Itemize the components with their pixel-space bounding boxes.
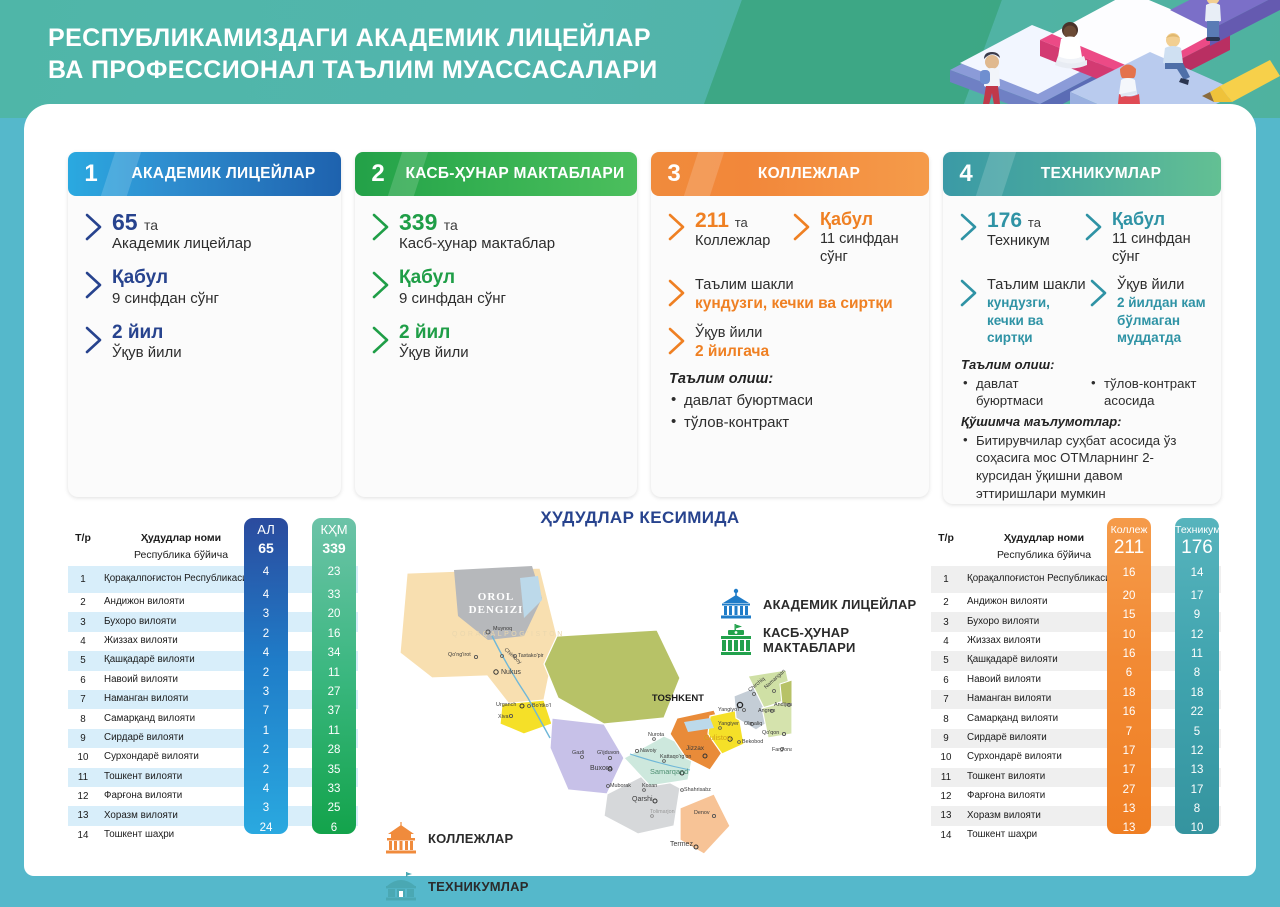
card3-admission-block: Қабул 11 синфдан сўнг — [790, 210, 915, 266]
value-column-al-total: 65 — [244, 537, 288, 559]
card3-admission-keyword: Қабул — [820, 210, 915, 230]
card3-year-label: Ўқув йили — [695, 324, 769, 342]
card2-body: 339 та Касб-ҳунар мактаблар Қабул 9 синф… — [355, 196, 637, 497]
row-number: 3 — [931, 617, 961, 628]
academic-lyceum-icon — [719, 588, 753, 620]
card1-header: 1 АКАДЕМИК ЛИЦЕЙЛАР — [68, 152, 341, 196]
value-cell: 18 — [1175, 684, 1219, 703]
card1-title: АКАДЕМИК ЛИЦЕЙЛАР — [114, 165, 341, 183]
value-cell: 16 — [312, 625, 356, 644]
vocational-school-icon — [719, 624, 753, 656]
row-number: 1 — [931, 574, 961, 585]
value-cell: 11 — [312, 722, 356, 741]
card1-duration-label: Ўқув йили — [112, 344, 327, 363]
card4-top-row: 176 та Техникум Қабул 11 синфдан сўнг — [957, 210, 1207, 266]
svg-text:G'ijduvon: G'ijduvon — [597, 750, 619, 756]
card4-number: 4 — [943, 160, 989, 188]
card4-header: 4 ТЕХНИКУМЛАР — [943, 152, 1221, 196]
legend-item-technicum: ТЕХНИКУМЛАР — [384, 870, 529, 902]
value-cell: 27 — [312, 683, 356, 702]
value-cell: 16 — [1107, 703, 1151, 722]
card4-note-item: давлат буюртмаси — [961, 375, 1079, 410]
legend-label: АКАДЕМИК ЛИЦЕЙЛАР — [763, 597, 916, 612]
card2-admission-row: Қабул 9 синфдан сўнг — [369, 268, 623, 309]
card4-extra-item: Битирувчилар суҳбат асосида ўз соҳасига … — [961, 432, 1207, 502]
card2-count-unit: та — [444, 217, 458, 233]
value-cell: 20 — [312, 605, 356, 624]
card4-note-list-left: давлат буюртмаси — [961, 375, 1079, 410]
value-cell: 11 — [312, 664, 356, 683]
row-number: 14 — [68, 830, 98, 841]
card3-count-label: Коллежлар — [695, 232, 770, 250]
card-vocational-schools[interactable]: 2 КАСБ-ҲУНАР МАКТАБЛАРИ 339 та Касб-ҳуна… — [355, 152, 637, 497]
value-cell: 2 — [244, 625, 288, 644]
chevron-right-icon — [665, 324, 691, 358]
value-cell: 14 — [1175, 560, 1219, 587]
value-column-technicum-cells: 141791211818225121317810 — [1175, 560, 1219, 839]
value-column-khm-header: КҲМ — [312, 518, 356, 537]
card2-admission-keyword: Қабул — [399, 268, 623, 289]
svg-text:Angren: Angren — [758, 708, 775, 714]
card4-note-item: тўлов-контракт асосида — [1089, 375, 1207, 410]
row-number: 12 — [68, 791, 98, 802]
row-number: 10 — [68, 752, 98, 763]
page-title-line1: РЕСПУБЛИКАМИЗДАГИ АКАДЕМИК ЛИЦЕЙЛАР — [48, 22, 658, 54]
table-left-col-num-header: Т/р — [68, 532, 98, 544]
card1-duration-row: 2 йил Ўқув йили — [82, 323, 327, 364]
value-cell: 7 — [1107, 723, 1151, 742]
card4-count-label: Техникум — [987, 232, 1050, 250]
card2-count: 339 — [399, 209, 437, 235]
value-cell: 17 — [1175, 587, 1219, 606]
svg-text:Gazli: Gazli — [572, 750, 584, 756]
value-cell: 4 — [244, 586, 288, 605]
card4-body: 176 та Техникум Қабул 11 синфдан сўнг — [943, 196, 1221, 504]
value-cell: 24 — [244, 819, 288, 838]
card3-header: 3 КОЛЛЕЖЛАР — [651, 152, 929, 196]
value-cell: 8 — [1175, 800, 1219, 819]
svg-text:Navoiy: Navoiy — [640, 748, 657, 754]
chevron-right-icon — [665, 276, 691, 310]
card3-count: 211 — [695, 209, 729, 232]
svg-text:Bo'rtko'l: Bo'rtko'l — [532, 703, 551, 709]
value-cell: 33 — [312, 780, 356, 799]
value-cell: 5 — [1175, 723, 1219, 742]
card2-admission-label: 9 синфдан сўнг — [399, 290, 623, 309]
value-cell: 23 — [312, 559, 356, 586]
row-number: 3 — [68, 617, 98, 628]
row-number: 7 — [68, 694, 98, 705]
row-number: 9 — [68, 733, 98, 744]
value-cell: 11 — [1175, 645, 1219, 664]
map-sea-label-line1: OROL — [478, 591, 514, 603]
card4-extra-list: Битирувчилар суҳбат асосида ўз соҳасига … — [961, 432, 1207, 502]
svg-text:Tolimarjon: Tolimarjon — [650, 809, 675, 815]
chevron-right-icon — [665, 210, 691, 244]
value-cell: 33 — [312, 586, 356, 605]
card3-year-row: Ўқув йили 2 йилгача — [665, 324, 915, 362]
value-column-college-header: Коллеж — [1107, 518, 1151, 536]
chevron-right-icon — [790, 210, 816, 244]
row-number: 4 — [68, 636, 98, 647]
chevron-right-icon — [82, 268, 108, 302]
chevron-right-icon — [957, 210, 983, 244]
card3-body: 211 та Коллежлар Қабул 11 синфдан сўнг — [651, 196, 929, 497]
college-icon — [384, 822, 418, 854]
card1-number: 1 — [68, 160, 114, 188]
card3-form-label: Таълим шакли — [695, 276, 893, 294]
card4-count-unit: та — [1028, 215, 1041, 230]
students-books-illustration — [920, 0, 1280, 118]
svg-text:QORAQALPOG'ISTON: QORAQALPOG'ISTON — [452, 631, 565, 638]
card1-count-row: 65 та Академик лицейлар — [82, 210, 327, 254]
value-cell: 3 — [244, 683, 288, 702]
svg-text:Yangiyo'l: Yangiyo'l — [718, 707, 739, 713]
row-number: 2 — [931, 597, 961, 608]
value-cell: 2 — [244, 664, 288, 683]
row-number: 11 — [68, 772, 98, 783]
value-cell: 25 — [312, 799, 356, 818]
svg-text:Taxtako'pir: Taxtako'pir — [518, 653, 544, 659]
table-lyceums-vocational: Т/р Ҳудудлар номи Республика бўйича 1Қор… — [68, 518, 358, 845]
svg-text:Urganch: Urganch — [496, 702, 516, 708]
card3-year-value: 2 йилгача — [695, 342, 769, 361]
value-column-college-total: 211 — [1107, 536, 1151, 560]
value-column-technicum: Техникум 176 141791211818225121317810 — [1175, 518, 1219, 834]
row-number: 9 — [931, 733, 961, 744]
svg-text:Bekobod: Bekobod — [742, 739, 763, 745]
card3-top-row: 211 та Коллежлар Қабул 11 синфдан сўнг — [665, 210, 915, 266]
value-cell: 13 — [1107, 800, 1151, 819]
card4-count-block: 176 та Техникум — [957, 210, 1082, 266]
svg-text:Termez: Termez — [670, 841, 693, 848]
card1-duration-keyword: 2 йил — [112, 323, 327, 344]
svg-text:Kosan: Kosan — [642, 783, 657, 789]
row-number: 5 — [931, 655, 961, 666]
svg-text:Samarqand: Samarqand — [650, 767, 688, 776]
value-cell: 22 — [1175, 703, 1219, 722]
value-cell: 18 — [1107, 684, 1151, 703]
card3-title: КОЛЛЕЖЛАР — [697, 165, 929, 183]
card4-year-value: 2 йилдан кам бўлмаган муддатда — [1117, 294, 1212, 347]
value-cell: 37 — [312, 702, 356, 721]
card3-number: 3 — [651, 160, 697, 188]
svg-text:Qo'ng'irot: Qo'ng'irot — [448, 652, 471, 658]
svg-text:Muborak: Muborak — [610, 783, 631, 789]
legend-item-academic-lyceum: АКАДЕМИК ЛИЦЕЙЛАР — [719, 588, 916, 620]
value-cell: 3 — [244, 799, 288, 818]
row-number: 1 — [68, 574, 98, 585]
card2-header: 2 КАСБ-ҲУНАР МАКТАБЛАРИ — [355, 152, 637, 196]
card3-form-row: Таълим шакли кундузги, кечки ва сиртқи — [665, 276, 915, 314]
card1-admission-label: 9 синфдан сўнг — [112, 290, 327, 309]
chevron-right-icon — [369, 268, 395, 302]
card1-body: 65 та Академик лицейлар Қабул 9 синфдан … — [68, 196, 341, 497]
card4-year-block: Ўқув йили 2 йилдан кам бўлмаган муддатда — [1087, 276, 1212, 347]
row-number: 2 — [68, 597, 98, 608]
svg-text:Olmaliq: Olmaliq — [744, 721, 762, 727]
value-cell: 4 — [244, 644, 288, 663]
chevron-right-icon — [82, 210, 108, 244]
value-cell: 17 — [1107, 742, 1151, 761]
legend-label: КОЛЛЕЖЛАР — [428, 831, 513, 846]
page-title: РЕСПУБЛИКАМИЗДАГИ АКАДЕМИК ЛИЦЕЙЛАР ВА П… — [48, 22, 658, 86]
value-cell: 20 — [1107, 587, 1151, 606]
legend-label: КАСБ-ҲУНАР МАКТАБЛАРИ — [763, 625, 930, 655]
value-column-khm: КҲМ 339 233320163411273711283533256 — [312, 518, 356, 834]
value-cell: 6 — [1107, 664, 1151, 683]
value-column-al: АЛ 65 443242371224324 — [244, 518, 288, 834]
card3-note-heading: Таълим олиш: — [669, 371, 915, 387]
row-number: 11 — [931, 772, 961, 783]
svg-text:Shahrisabz: Shahrisabz — [684, 787, 711, 793]
card2-duration-label: Ўқув йили — [399, 344, 623, 363]
svg-text:Guliston: Guliston — [704, 733, 731, 742]
card4-admission-block: Қабул 11 синфдан сўнг — [1082, 210, 1207, 266]
svg-text:Farg'ona: Farg'ona — [772, 747, 792, 753]
svg-text:Andijon: Andijon — [774, 702, 792, 708]
row-number: 10 — [931, 752, 961, 763]
value-cell: 13 — [1175, 761, 1219, 780]
card-technicums[interactable]: 4 ТЕХНИКУМЛАР 176 та Техникум — [943, 152, 1221, 504]
card1-count-unit: та — [144, 217, 158, 233]
card4-form-block: Таълим шакли кундузги, кечки ва сиртқи — [957, 276, 1087, 347]
chevron-right-icon — [1087, 276, 1113, 310]
legend-item-vocational-school: КАСБ-ҲУНАР МАКТАБЛАРИ — [719, 624, 930, 656]
card-colleges[interactable]: 3 КОЛЛЕЖЛАР 211 та Коллежлар — [651, 152, 929, 497]
chevron-right-icon — [369, 323, 395, 357]
value-cell: 9 — [1175, 606, 1219, 625]
card1-admission-row: Қабул 9 синфдан сўнг — [82, 268, 327, 309]
value-cell: 7 — [244, 702, 288, 721]
card4-note-list-right: тўлов-контракт асосида — [1089, 375, 1207, 410]
value-cell: 2 — [244, 761, 288, 780]
row-number: 5 — [68, 655, 98, 666]
value-column-al-cells: 443242371224324 — [244, 559, 288, 838]
card3-form-value: кундузги, кечки ва сиртқи — [695, 294, 893, 313]
card3-admission-label: 11 синфдан сўнг — [820, 230, 915, 266]
row-number: 4 — [931, 636, 961, 647]
value-cell: 34 — [312, 644, 356, 663]
value-column-khm-total: 339 — [312, 537, 356, 559]
value-cell: 10 — [1175, 819, 1219, 838]
value-cell: 17 — [1175, 781, 1219, 800]
table-right-col-num-header: Т/р — [931, 532, 961, 544]
value-cell: 28 — [312, 741, 356, 760]
value-cell: 2 — [244, 741, 288, 760]
card4-note-heading: Таълим олиш: — [961, 357, 1207, 372]
svg-text:Qo'qon: Qo'qon — [762, 730, 779, 736]
row-number: 6 — [931, 675, 961, 686]
svg-text:Jizzax: Jizzax — [686, 745, 705, 752]
card1-count: 65 — [112, 209, 138, 235]
card3-note-item: тўлов-контракт — [669, 412, 915, 434]
card2-count-label: Касб-ҳунар мактаблар — [399, 235, 623, 254]
value-cell: 35 — [312, 761, 356, 780]
card2-count-row: 339 та Касб-ҳунар мактаблар — [369, 210, 623, 254]
value-column-technicum-total: 176 — [1175, 536, 1219, 560]
map-region: OROL DENGIZI QORAQALPOG'ISTON Muynoq Qo'… — [364, 540, 930, 870]
svg-text:Xiva: Xiva — [498, 714, 509, 720]
row-number: 12 — [931, 791, 961, 802]
value-cell: 17 — [1107, 761, 1151, 780]
card4-form-value: кундузги, кечки ва сиртқи — [987, 294, 1087, 347]
svg-text:Muynoq: Muynoq — [493, 626, 512, 632]
table-colleges-technicums: Т/р Ҳудудлар номи Республика бўйича 1Қор… — [931, 518, 1221, 845]
value-cell: 16 — [1107, 560, 1151, 587]
svg-text:Qarshi: Qarshi — [632, 796, 653, 803]
value-cell: 4 — [244, 780, 288, 799]
value-cell: 1 — [244, 722, 288, 741]
value-cell: 4 — [244, 559, 288, 586]
value-cell: 16 — [1107, 645, 1151, 664]
value-column-al-header: АЛ — [244, 518, 288, 537]
card4-admission-label: 11 синфдан сўнг — [1112, 230, 1207, 266]
value-cell: 10 — [1107, 626, 1151, 645]
value-cell: 27 — [1107, 781, 1151, 800]
card1-count-label: Академик лицейлар — [112, 235, 327, 254]
chevron-right-icon — [82, 323, 108, 357]
card3-count-block: 211 та Коллежлар — [665, 210, 790, 266]
chevron-right-icon — [369, 210, 395, 244]
card2-number: 2 — [355, 160, 401, 188]
card2-duration-keyword: 2 йил — [399, 323, 623, 344]
row-number: 13 — [68, 810, 98, 821]
card4-admission-keyword: Қабул — [1112, 210, 1207, 230]
card4-form-year-row: Таълим шакли кундузги, кечки ва сиртқи Ў… — [957, 276, 1207, 347]
svg-text:Buxoro: Buxoro — [590, 765, 612, 772]
card3-note-list: давлат буюртмаси тўлов-контракт — [669, 390, 915, 434]
card4-form-label: Таълим шакли — [987, 276, 1087, 294]
page-title-line2: ВА ПРОФЕССИОНАЛ ТАЪЛИМ МУАССАСАЛАРИ — [48, 54, 658, 86]
svg-text:Nukus: Nukus — [501, 669, 521, 676]
svg-text:Kattaqo'rg'on: Kattaqo'rg'on — [660, 754, 691, 760]
value-column-college-cells: 16201510166181671717271313 — [1107, 560, 1151, 839]
main-panel: 1 АКАДЕМИК ЛИЦЕЙЛАР 65 та Академик лицей… — [24, 104, 1256, 876]
card1-admission-keyword: Қабул — [112, 268, 327, 289]
card4-title: ТЕХНИКУМЛАР — [989, 165, 1221, 183]
svg-text:Nurota: Nurota — [648, 732, 664, 738]
legend-label: ТЕХНИКУМЛАР — [428, 879, 529, 894]
value-column-college: Коллеж 211 16201510166181671717271313 — [1107, 518, 1151, 834]
value-column-technicum-header: Техникум — [1175, 518, 1219, 536]
value-cell: 3 — [244, 605, 288, 624]
value-cell: 12 — [1175, 742, 1219, 761]
card3-note-item: давлат буюртмаси — [669, 390, 915, 412]
value-column-khm-cells: 233320163411273711283533256 — [312, 559, 356, 838]
value-cell: 15 — [1107, 606, 1151, 625]
page-header: РЕСПУБЛИКАМИЗДАГИ АКАДЕМИК ЛИЦЕЙЛАР ВА П… — [0, 0, 1280, 118]
svg-text:Yangiyer: Yangiyer — [718, 721, 739, 727]
row-number: 8 — [68, 714, 98, 725]
value-cell: 12 — [1175, 626, 1219, 645]
row-number: 14 — [931, 830, 961, 841]
card4-year-label: Ўқув йили — [1117, 276, 1212, 294]
value-cell: 8 — [1175, 664, 1219, 683]
row-number: 6 — [68, 675, 98, 686]
row-number: 7 — [931, 694, 961, 705]
card3-count-unit: та — [735, 215, 748, 230]
technicum-icon — [384, 870, 418, 902]
card4-count: 176 — [987, 209, 1022, 232]
card4-extra-heading: Қўшимча маълумотлар: — [961, 414, 1207, 429]
card2-title: КАСБ-ҲУНАР МАКТАБЛАРИ — [401, 165, 637, 183]
legend-item-college: КОЛЛЕЖЛАР — [384, 822, 513, 854]
value-cell: 6 — [312, 819, 356, 838]
chevron-right-icon — [1082, 210, 1108, 244]
map-capital-label: TOSHKENT — [652, 693, 704, 704]
svg-text:Denov: Denov — [694, 810, 710, 816]
value-cell: 13 — [1107, 819, 1151, 838]
card-academic-lyceums[interactable]: 1 АКАДЕМИК ЛИЦЕЙЛАР 65 та Академик лицей… — [68, 152, 341, 497]
card2-duration-row: 2 йил Ўқув йили — [369, 323, 623, 364]
map-sea-label-line2: DENGIZI — [469, 604, 524, 616]
row-number: 13 — [931, 810, 961, 821]
row-number: 8 — [931, 714, 961, 725]
chevron-right-icon — [957, 276, 983, 310]
